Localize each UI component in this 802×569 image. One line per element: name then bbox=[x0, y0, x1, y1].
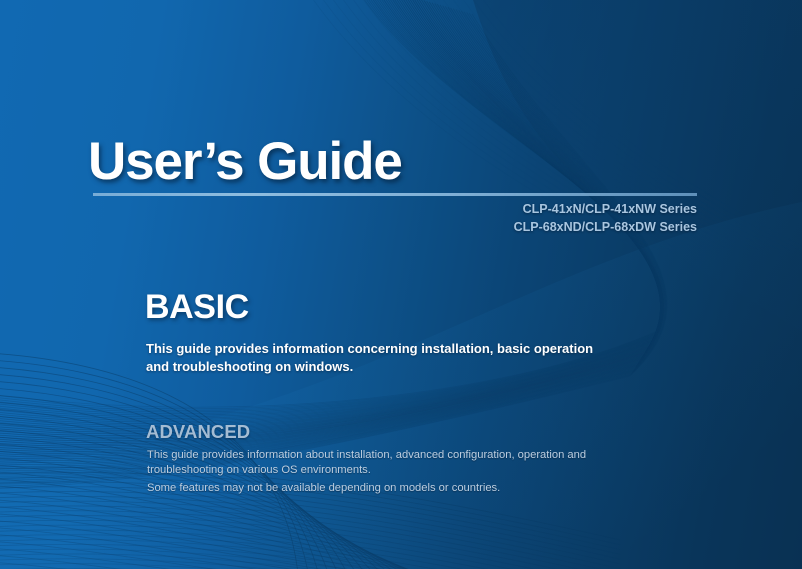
basic-section-body: This guide provides information concerni… bbox=[146, 340, 616, 375]
basic-section-heading: BASIC bbox=[145, 288, 249, 327]
advanced-section-body: This guide provides information about in… bbox=[147, 448, 617, 477]
model-series-list: CLP-41xN/CLP-41xNW Series CLP-68xND/CLP-… bbox=[197, 200, 697, 236]
advanced-section-heading: ADVANCED bbox=[146, 421, 250, 443]
model-series-line-2: CLP-68xND/CLP-68xDW Series bbox=[197, 218, 697, 236]
page-title: User’s Guide bbox=[88, 131, 402, 192]
title-divider-rule bbox=[93, 193, 697, 196]
advanced-section-note: Some features may not be available depen… bbox=[147, 481, 617, 496]
model-series-line-1: CLP-41xN/CLP-41xNW Series bbox=[197, 200, 697, 218]
cover-page: User’s Guide CLP-41xN/CLP-41xNW Series C… bbox=[0, 0, 802, 569]
